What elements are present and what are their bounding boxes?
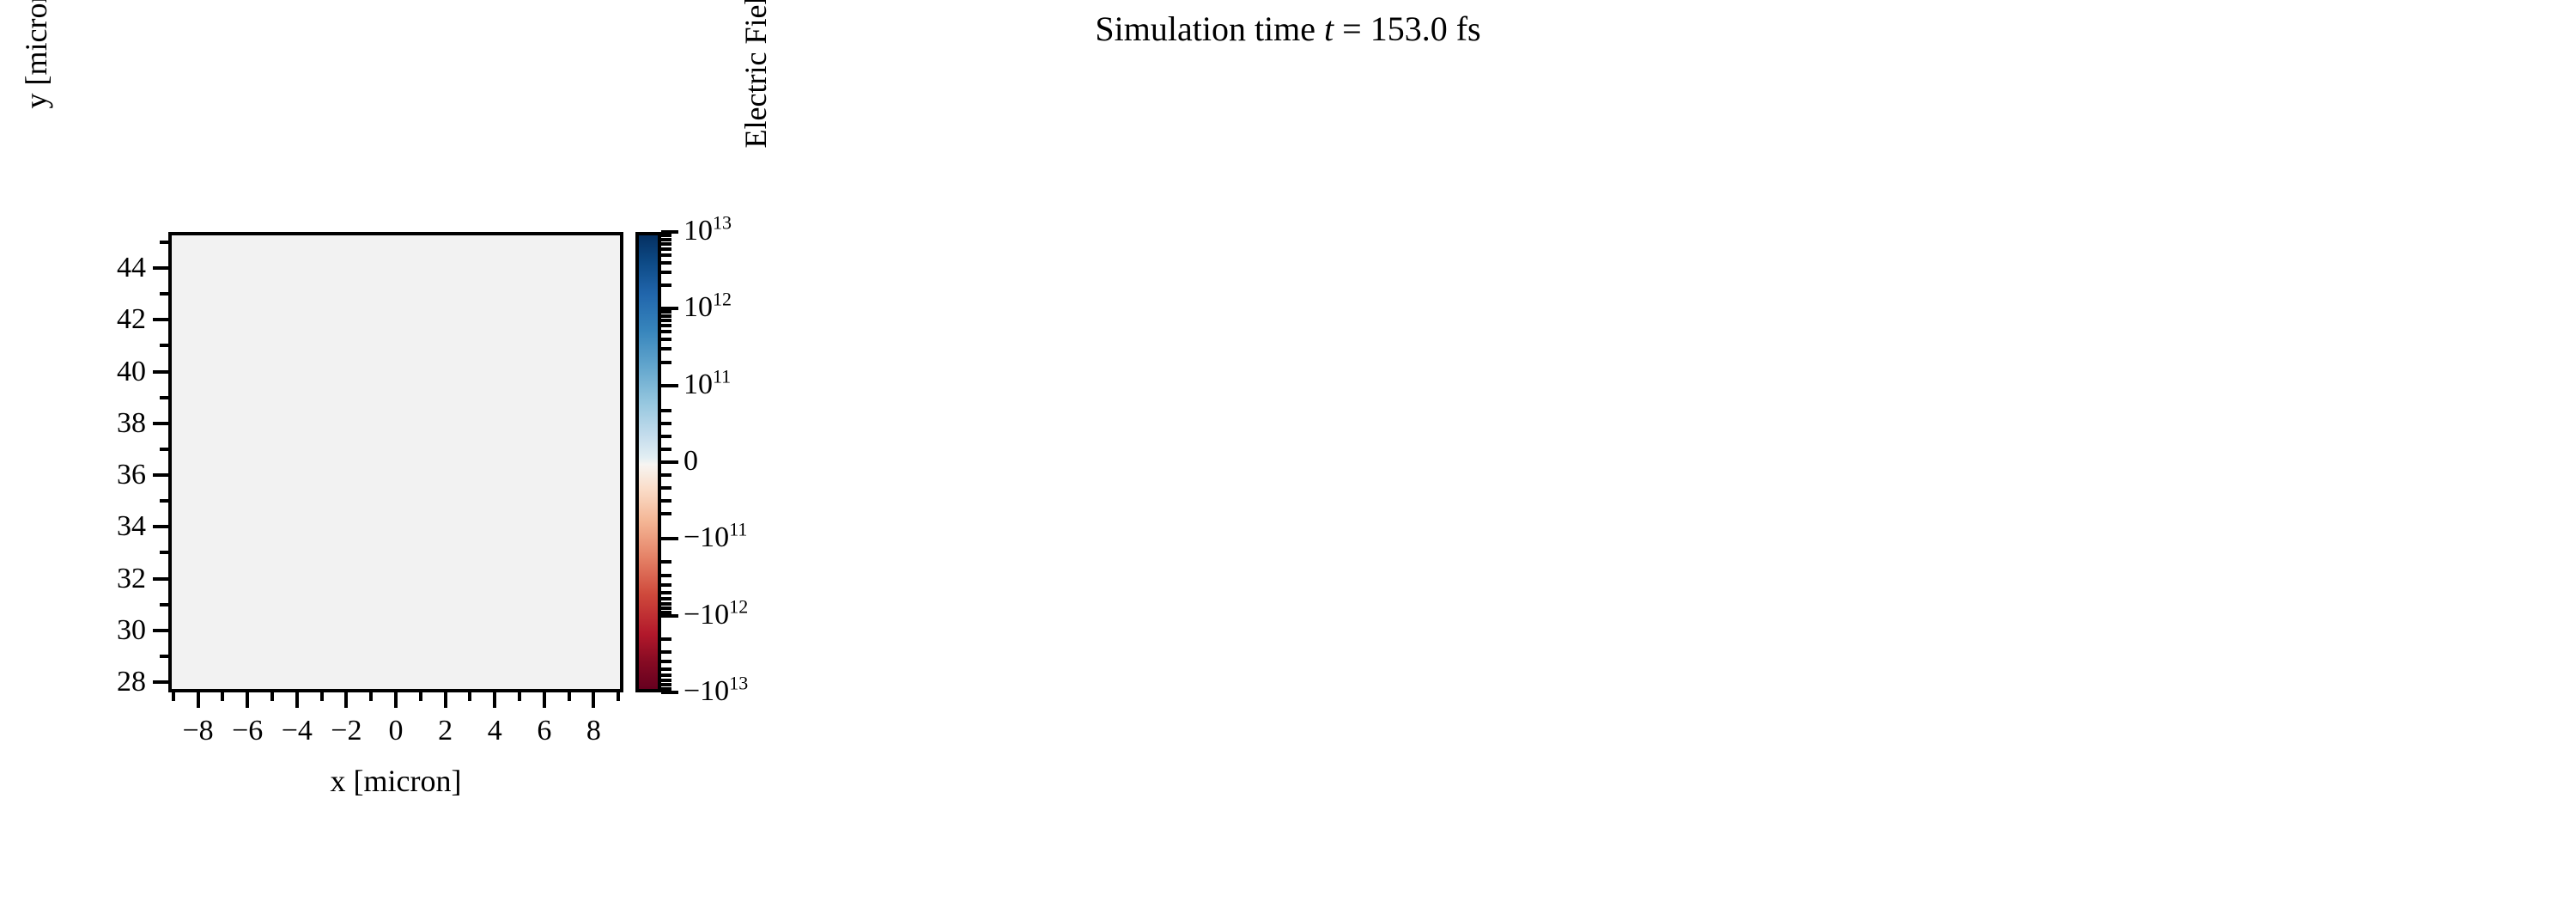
colorbar-tick-label: 1012	[683, 293, 732, 322]
x-axis-major-tick	[295, 692, 299, 708]
colorbar-minor-tick	[661, 597, 671, 600]
y-axis-minor-tick	[160, 551, 168, 554]
x-axis-minor-tick	[369, 692, 373, 701]
y-axis-major-tick	[153, 577, 168, 581]
colorbar-minor-tick	[661, 606, 671, 610]
y-axis-minor-tick	[160, 292, 168, 296]
x-axis-major-tick	[543, 692, 546, 708]
colorbar-tick-label: −1011	[683, 523, 747, 552]
x-axis-minor-tick	[320, 692, 324, 701]
colorbar-minor-tick	[661, 473, 671, 477]
x-axis-minor-tick	[172, 692, 175, 701]
y-axis-tick-label: 34	[86, 512, 146, 541]
x-axis-major-tick	[394, 692, 398, 708]
colorbar-minor-tick	[661, 583, 671, 587]
x-axis-minor-tick	[468, 692, 471, 701]
colorbar-tick-label-mantissa: −10	[683, 675, 729, 707]
field-panel-ex: 283032343638404244−8−6−4−202468x [micron…	[0, 0, 859, 902]
figure-title-prefix: Simulation time	[1095, 9, 1324, 48]
colorbar-minor-tick	[661, 283, 671, 287]
figure-title-value: 153.0	[1370, 9, 1448, 48]
colorbar-minor-tick	[661, 347, 671, 350]
colorbar-minor-tick	[661, 660, 671, 663]
colorbar-minor-tick	[661, 637, 671, 641]
x-axis-major-tick	[444, 692, 447, 708]
x-axis-minor-tick	[518, 692, 521, 701]
colorbar-tick-label-exponent: 11	[713, 365, 731, 387]
colorbar-title: Electric Field/Ex	[735, 0, 776, 273]
y-axis-tick-label: 32	[86, 564, 146, 594]
colorbar-minor-tick	[661, 683, 671, 686]
plot-area-ex[interactable]	[168, 232, 623, 692]
colorbar-minor-tick	[661, 679, 671, 682]
colorbar-minor-tick	[661, 361, 671, 364]
colorbar-ex[interactable]	[635, 232, 661, 692]
y-axis-tick-label: 42	[86, 305, 146, 334]
colorbar-tick-label-mantissa: −10	[683, 521, 729, 553]
colorbar-tick-label-mantissa: 10	[683, 291, 713, 323]
y-axis-major-tick	[153, 473, 168, 477]
y-axis-minor-tick	[160, 396, 168, 399]
colorbar-tick-label: 1013	[683, 216, 732, 246]
colorbar-tick-label-exponent: 13	[729, 673, 748, 694]
colorbar-major-tick	[661, 537, 678, 540]
colorbar-tick-label-mantissa: 0	[683, 445, 698, 477]
x-axis-major-tick	[197, 692, 200, 708]
colorbar-minor-tick	[661, 512, 671, 515]
y-axis-major-tick	[153, 525, 168, 528]
figure-title-unit: fs	[1448, 9, 1481, 48]
y-axis-minor-tick	[160, 241, 168, 244]
colorbar-minor-tick	[661, 611, 671, 614]
y-axis-major-tick	[153, 370, 168, 374]
colorbar-minor-tick	[661, 574, 671, 577]
y-axis-major-tick	[153, 680, 168, 684]
colorbar-minor-tick	[661, 330, 671, 333]
colorbar-tick-label-mantissa: −10	[683, 599, 729, 631]
colorbar-minor-tick	[661, 314, 671, 318]
colorbar-tick-label: −1012	[683, 600, 748, 630]
y-axis-minor-tick	[160, 655, 168, 658]
colorbar-minor-tick	[661, 448, 671, 451]
colorbar-minor-tick	[661, 650, 671, 654]
colorbar-minor-tick	[661, 499, 671, 503]
x-axis-minor-tick	[617, 692, 620, 701]
y-axis-tick-label: 44	[86, 253, 146, 283]
y-axis-minor-tick	[160, 603, 168, 606]
colorbar-tick-label-exponent: 13	[713, 212, 732, 234]
figure-title-equals: =	[1334, 9, 1370, 48]
colorbar-minor-tick	[661, 234, 671, 237]
y-axis-tick-label: 30	[86, 616, 146, 645]
y-axis-major-tick	[153, 629, 168, 632]
y-axis-minor-tick	[160, 499, 168, 503]
colorbar-minor-tick	[661, 602, 671, 606]
y-axis-tick-label: 40	[86, 357, 146, 387]
colorbar-minor-tick	[661, 673, 671, 677]
x-axis-minor-tick	[568, 692, 571, 701]
colorbar-minor-tick	[661, 435, 671, 438]
x-axis-minor-tick	[419, 692, 422, 701]
figure-title-variable: t	[1324, 9, 1334, 48]
colorbar-minor-tick	[661, 238, 671, 241]
x-axis-tick-label: 8	[559, 715, 628, 747]
colorbar-minor-tick	[661, 271, 671, 274]
y-axis-major-tick	[153, 422, 168, 425]
y-axis-minor-tick	[160, 344, 168, 347]
x-axis-minor-tick	[221, 692, 224, 701]
y-axis-minor-tick	[160, 448, 168, 451]
y-axis-tick-label: 38	[86, 409, 146, 438]
colorbar-major-tick	[661, 460, 678, 464]
x-axis-major-tick	[592, 692, 595, 708]
x-axis-title: x [micron]	[168, 763, 623, 799]
colorbar-minor-tick	[661, 319, 671, 322]
y-axis-tick-label: 28	[86, 667, 146, 697]
colorbar-tick-label-exponent: 11	[729, 519, 747, 540]
y-axis-tick-label: 36	[86, 460, 146, 490]
colorbar-minor-tick	[661, 667, 671, 671]
colorbar-minor-tick	[661, 409, 671, 412]
colorbar-minor-tick	[661, 338, 671, 341]
colorbar-minor-tick	[661, 247, 671, 251]
x-axis-major-tick	[344, 692, 348, 708]
colorbar-minor-tick	[661, 324, 671, 327]
colorbar-tick-label: −1013	[683, 677, 748, 706]
y-axis-major-tick	[153, 266, 168, 270]
colorbar-minor-tick	[661, 687, 671, 691]
colorbar-tick-label-exponent: 12	[729, 595, 748, 617]
colorbar-major-tick	[661, 384, 678, 387]
colorbar-minor-tick	[661, 591, 671, 594]
colorbar-tick-label-mantissa: 10	[683, 215, 713, 247]
colorbar-minor-tick	[661, 242, 671, 246]
field-heatmap-ex	[172, 235, 620, 689]
colorbar-minor-tick	[661, 253, 671, 257]
colorbar-tick-label: 1011	[683, 370, 731, 399]
colorbar-tick-label-mantissa: 10	[683, 369, 713, 400]
x-axis-major-tick	[246, 692, 249, 708]
colorbar-major-tick	[661, 614, 678, 618]
colorbar-minor-tick	[661, 422, 671, 425]
colorbar-major-tick	[661, 691, 678, 694]
colorbar-tick-label: 0	[683, 447, 698, 476]
y-axis-title: y [micron]	[15, 0, 57, 273]
colorbar-minor-tick	[661, 310, 671, 314]
colorbar-minor-tick	[661, 560, 671, 564]
colorbar-minor-tick	[661, 261, 671, 265]
colorbar-tick-label-exponent: 12	[713, 289, 732, 310]
x-axis-minor-tick	[270, 692, 274, 701]
y-axis-major-tick	[153, 318, 168, 321]
x-axis-major-tick	[493, 692, 496, 708]
colorbar-minor-tick	[661, 486, 671, 490]
